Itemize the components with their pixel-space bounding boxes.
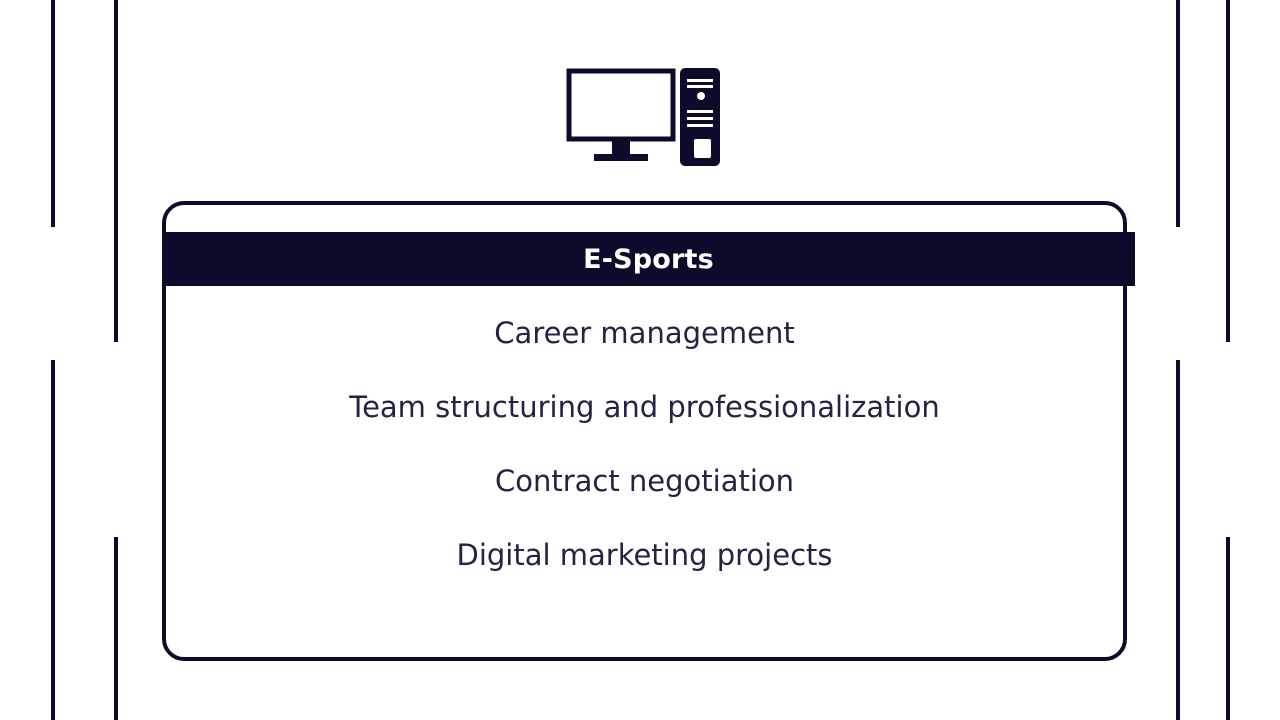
card-title: E-Sports xyxy=(583,246,714,273)
right-inner-rule-top xyxy=(1176,0,1180,227)
card-header-band: E-Sports xyxy=(162,232,1135,286)
right-inner-rule-bottom xyxy=(1176,360,1180,720)
content-card: E-Sports Career management Team structur… xyxy=(162,201,1127,661)
right-outer-rule-bottom xyxy=(1226,537,1230,720)
list-item: Team structuring and professionalization xyxy=(166,393,1123,422)
list-item: Contract negotiation xyxy=(166,467,1123,496)
left-outer-rule-bottom xyxy=(51,360,55,720)
left-inner-rule-bottom xyxy=(114,537,118,720)
list-item: Career management xyxy=(166,319,1123,348)
right-outer-rule-top xyxy=(1226,0,1230,342)
slide-canvas: E-Sports Career management Team structur… xyxy=(0,0,1280,720)
desktop-computer-icon xyxy=(566,68,722,166)
list-item: Digital marketing projects xyxy=(166,541,1123,570)
left-outer-rule-top xyxy=(51,0,55,227)
left-inner-rule-top xyxy=(114,0,118,342)
card-body: Career management Team structuring and p… xyxy=(166,286,1123,657)
